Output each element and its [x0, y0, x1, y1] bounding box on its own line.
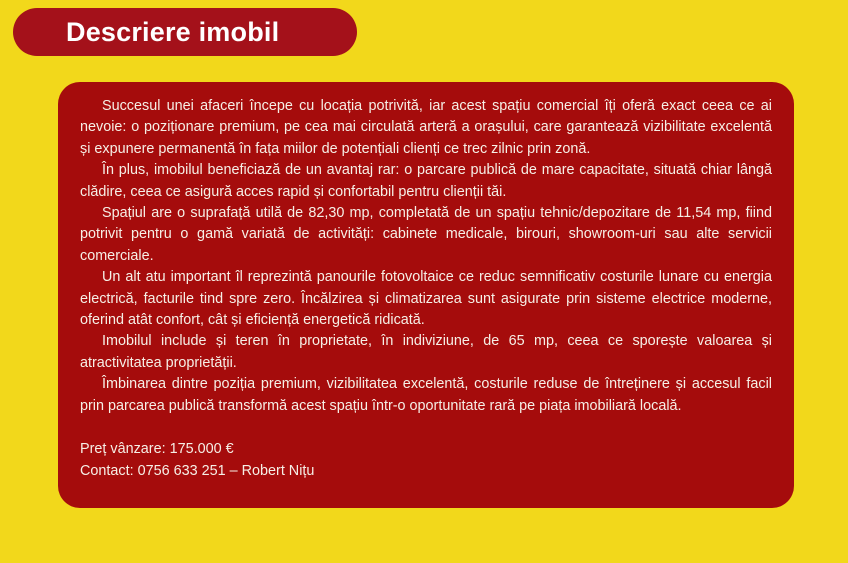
listing-meta: Preț vânzare: 175.000 € Contact: 0756 63…	[80, 439, 772, 482]
contact-line: Contact: 0756 633 251 – Robert Nițu	[80, 461, 772, 482]
description-paragraph: Spațiul are o suprafață utilă de 82,30 m…	[80, 203, 772, 267]
description-body: Succesul unei afaceri începe cu locația …	[80, 96, 772, 417]
description-paragraph: Succesul unei afaceri începe cu locația …	[80, 96, 772, 160]
price-line: Preț vânzare: 175.000 €	[80, 439, 772, 460]
section-header-pill: Descriere imobil	[13, 8, 357, 56]
description-paragraph: Îmbinarea dintre poziția premium, vizibi…	[80, 374, 772, 417]
property-description-card: Succesul unei afaceri începe cu locația …	[58, 82, 794, 508]
page-title: Descriere imobil	[66, 19, 279, 46]
description-paragraph: În plus, imobilul beneficiază de un avan…	[80, 160, 772, 203]
description-paragraph: Imobilul include și teren în proprietate…	[80, 331, 772, 374]
description-paragraph: Un alt atu important îl reprezintă panou…	[80, 267, 772, 331]
